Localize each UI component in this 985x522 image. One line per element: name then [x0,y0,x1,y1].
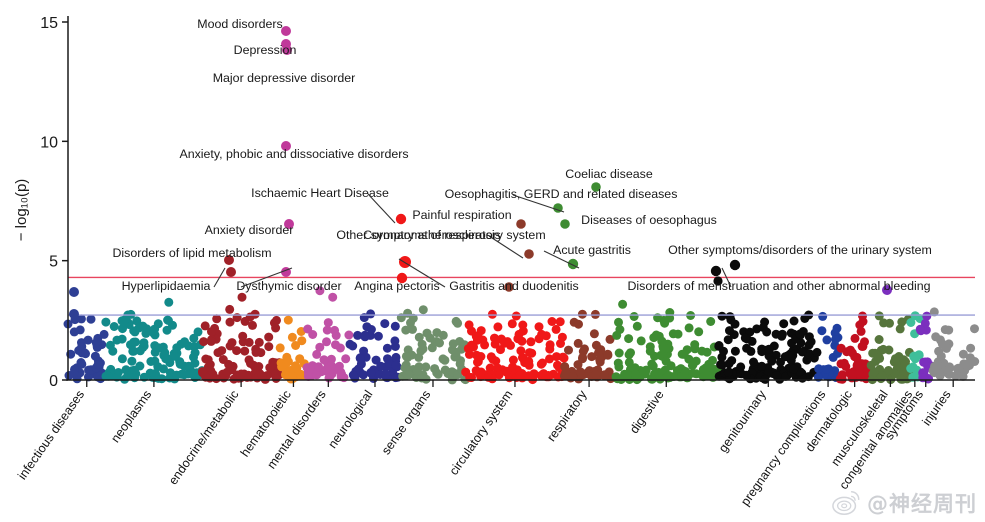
annotation-label: Painful respiration [412,208,511,222]
scatter-point [392,353,401,362]
scatter-point [637,336,646,345]
annotation-anxiety-phobic-and-dissociative-disorder: Anxiety, phobic and dissociative disorde… [179,147,408,161]
scatter-point [576,367,585,376]
scatter-point [91,352,100,361]
scatter-point [435,339,444,348]
category-label-neoplasms: neoplasms [108,388,154,446]
scatter-point [69,369,78,378]
scatter-point [350,374,359,383]
annotation-label: Diseases of oesophagus [581,213,717,227]
scatter-point [694,327,703,336]
scatter-point [254,362,263,371]
scatter-point [198,367,207,376]
scatter-point [476,352,485,361]
scatter-point [92,338,101,347]
scatter-point [919,358,928,367]
scatter-point [685,323,694,332]
annotation-label: Other symptoms/disorders of the urinary … [668,243,932,257]
scatter-point [841,362,850,371]
scatter-point [548,317,557,326]
scatter-point [646,347,655,356]
scatter-point [508,319,517,328]
scatter-point [805,341,814,350]
annotation-coronary-atherosclerosis: Coronary atherosclerosis [363,228,501,242]
scatter-point [512,312,521,321]
annotation-label: Anxiety, phobic and dissociative disorde… [179,147,408,161]
scatter-point [649,333,658,342]
scatter-point [180,337,189,346]
category-label-respiratory: respiratory [544,387,590,444]
scatter-point [264,342,273,351]
scatter-point [822,335,831,344]
scatter-point [662,357,671,366]
scatter-point [139,338,148,347]
scatter-point [600,371,609,380]
scatter-point [374,332,383,341]
scatter-point [742,344,751,353]
scatter-point [615,349,624,358]
category-cloud-digestive [612,300,723,384]
scatter-point [380,319,389,328]
scatter-point [799,327,808,336]
scatter-point [525,348,534,357]
scatter-point [537,360,546,369]
scatter-point [81,349,90,358]
scatter-point [858,312,867,321]
scatter-point [851,334,860,343]
scatter-point [515,371,524,380]
scatter-point [381,370,390,379]
scatter-point [896,324,905,333]
scatter-point [271,324,280,333]
scatter-point [493,322,502,331]
scatter-point [87,315,96,324]
scatter-point [94,360,103,369]
scatter-point [560,354,569,363]
scatter-point [688,361,697,370]
scatter-point [219,355,228,364]
scatter-point [657,337,666,346]
category-cloud-dermatologic [836,312,872,384]
scatter-point [541,371,550,380]
scatter-point [252,348,261,357]
scatter-point [240,347,249,356]
highlighted-points-layer [69,26,892,319]
scatter-point [535,322,544,331]
annotation-mood-disorders: Mood disorders [197,17,282,31]
scatter-point [440,356,449,365]
annotation-disorders-of-menstruation-and-other-abno: Disorders of menstruation and other abno… [627,268,930,293]
scatter-point [855,321,864,330]
scatter-point [118,354,127,363]
scatter-point [272,374,281,383]
weibo-logo-icon [832,488,862,518]
annotation-label: Major depressive disorder [213,71,356,85]
scatter-point [596,345,605,354]
scatter-point [264,333,273,342]
scatter-point [757,362,766,371]
scatter-point [180,370,189,379]
scatter-point [817,326,826,335]
scatter-point [818,312,827,321]
scatter-point [789,365,798,374]
scatter-point [970,324,979,333]
scatter-point [154,374,163,383]
y-axis-title: − log₁₀(p) [13,179,30,242]
scatter-point [76,325,85,334]
scatter-point [590,329,599,338]
scatter-point [578,310,587,319]
scatter-point [767,357,776,366]
scatter-point [741,333,750,342]
annotation-label: Hyperlipidaemia [122,279,211,293]
scatter-point [966,344,975,353]
scatter-point [335,362,344,371]
scatter-point [556,317,565,326]
scatter-point [961,360,970,369]
scatter-point [488,310,497,319]
scatter-point [452,348,461,357]
annotation-label: Coronary atherosclerosis [363,228,501,242]
scatter-point [245,338,254,347]
scatter-point [674,330,683,339]
highlight-point-urinary-symptoms [730,260,740,270]
scatter-point [171,352,180,361]
category-cloud-genitourinary [714,311,822,384]
highlight-point-diseases-oesophagus [560,219,570,229]
scatter-point [265,363,274,372]
scatter-point [419,344,428,353]
scatter-point [515,330,524,339]
scatter-point [441,366,450,375]
scatter-point [906,318,915,327]
scatter-point [703,371,712,380]
scatter-point [228,338,237,347]
scatter-point [591,370,600,379]
scatter-point [127,357,136,366]
scatter-point [237,370,246,379]
scatter-point [518,321,527,330]
scatter-point [284,316,293,325]
annotation-label: Mood disorders [197,17,282,31]
category-cloud-mental-disorders [303,286,354,382]
category-label-infectious-diseases: infectious diseases [15,388,87,483]
scatter-point [690,344,699,353]
highlight-point-hyperlipidaemia [226,267,236,277]
scatter-point [574,320,583,329]
scatter-point [432,368,441,377]
scatter-point [558,333,567,342]
category-cloud-sense-organs [397,305,470,384]
scatter-point [272,316,281,325]
scatter-point [508,363,517,372]
scatter-point [772,371,781,380]
annotation-diseases-of-oesophagus: Diseases of oesophagus [581,213,717,227]
scatter-point [391,342,400,351]
scatter-point [366,309,375,318]
scatter-point [944,326,953,335]
scatter-point [359,370,368,379]
scatter-point [423,329,432,338]
scatter-point [296,370,305,379]
scatter-point [524,357,533,366]
category-cloud-circulatory-system [461,310,568,384]
scatter-point [295,354,304,363]
category-label-circulatory-system: circulatory system [447,388,516,478]
scatter-point [491,357,500,366]
scatter-point [328,293,337,302]
scatter-point [725,326,734,335]
scatter-point [580,344,589,353]
scatter-point [878,372,887,381]
scatter-point [654,368,663,377]
scatter-point [314,362,323,371]
highlight-point-coronary-athero [399,256,411,268]
annotation-ischaemic-heart-disease: Ischaemic Heart Disease [251,186,395,223]
scatter-point [630,312,639,321]
scatter-point [110,322,119,331]
scatter-point [615,325,624,334]
scatter-point [814,364,823,373]
scatter-point [232,346,241,355]
scatter-point [659,316,668,325]
scatter-point [603,351,612,360]
category-label-endocrine-metabolic: endocrine/metabolic [166,388,242,488]
category-label-sense-organs: sense organs [379,388,434,458]
scatter-point [276,343,285,352]
category-cloud-neoplasms [101,298,206,384]
annotation-label: Anxiety disorder [205,223,294,237]
scatter-point [163,316,172,325]
scatter-point [284,357,293,366]
scatter-point [108,347,117,356]
scatter-point [688,369,697,378]
scatter-point [480,340,489,349]
scatter-point [879,345,888,354]
annotation-labels-layer: Mood disordersDepressionMajor depressive… [112,17,931,293]
scatter-point [836,374,845,383]
scatter-point [813,348,822,357]
scatter-point [151,348,160,357]
scatter-point [837,344,846,353]
annotation-disorders-of-lipid-metabolism: Disorders of lipid metabolism [112,246,271,260]
scatter-point [875,353,884,362]
scatter-point [207,327,216,336]
scatter-point [798,348,807,357]
annotation-acute-gastritis: Acute gastritis [544,243,631,268]
scatter-point [331,340,340,349]
scatter-point [361,332,370,341]
scatter-point [391,361,400,370]
scatter-point [131,338,140,347]
scatter-point [449,339,458,348]
scatter-point [101,318,110,327]
watermark: @神经周刊 [832,488,977,518]
scatter-point [312,350,321,359]
scatter-point [312,370,321,379]
scatter-point [189,334,198,343]
annotation-depression: Depression [234,43,297,57]
scatter-point [246,359,255,368]
scatter-point [341,354,350,363]
scatter-point [618,300,627,309]
category-cloud-neurological [346,309,403,383]
scatter-point [633,322,642,331]
scatter-point [404,370,413,379]
scatter-point [777,332,786,341]
scatter-point [344,331,353,340]
annotation-label: Ischaemic Heart Disease [251,186,389,200]
scatter-point [625,350,634,359]
scatter-point [322,337,331,346]
scatter-point [647,375,656,384]
scatter-point [788,351,797,360]
scatter-point [552,325,561,334]
scatter-point [936,371,945,380]
scatter-point [664,371,673,380]
annotation-label: Dysthymic disorder [236,279,341,293]
scatter-point [724,368,733,377]
scatter-point [564,346,573,355]
scatter-point [207,337,216,346]
scatter-point [413,366,422,375]
scatter-point [852,353,861,362]
y-tick-label: 0 [49,373,58,390]
scatter-point [938,339,947,348]
category-label-injuries: injuries [919,388,953,428]
scatter-point [251,310,260,319]
scatter-point [149,329,158,338]
scatter-point [718,312,727,321]
annotation-hyperlipidaemia: Hyperlipidaemia [122,268,225,293]
scatter-point [472,366,481,375]
annotation-major-depressive-disorder: Major depressive disorder [213,71,356,85]
scatter-point [136,346,145,355]
scatter-point [749,358,758,367]
scatter-point [916,325,925,334]
scatter-point [639,367,648,376]
scatter-point [118,324,127,333]
y-axis-label-layer: − log₁₀(p) [13,179,30,242]
scatter-point [77,358,86,367]
scatter-points-layer [64,286,980,384]
scatter-point [403,309,412,318]
scatter-point [897,375,906,384]
y-tick-label: 15 [40,15,58,32]
scatter-point [189,353,198,362]
scatter-point [238,332,247,341]
scatter-point [631,370,640,379]
scatter-point [595,355,604,364]
scatter-point [453,319,462,328]
scatter-point [118,316,127,325]
scatter-point [367,325,376,334]
scatter-point [831,335,840,344]
scatter-point [176,360,185,369]
scatter-point [885,319,894,328]
annotation-label: Angina pectoris [354,279,439,293]
scatter-point [419,305,428,314]
annotation-label: Acute gastritis [553,243,631,257]
scatter-point [308,330,317,339]
scatter-point [822,365,831,374]
scatter-point [742,371,751,380]
scatter-point [123,371,132,380]
scatter-point [238,293,247,302]
scatter-point [348,342,357,351]
scatter-point [248,321,257,330]
highlight-point-infectious-high-1 [69,287,79,297]
scatter-point [930,362,939,371]
scatter-point [223,368,232,377]
scatter-point [217,346,226,355]
scatter-point [537,330,546,339]
highlight-point-acute-gastritis [568,259,578,269]
annotation-label: Disorders of menstruation and other abno… [627,279,930,293]
scatter-point [715,341,724,350]
scatter-point [132,316,141,325]
scatter-point [164,298,173,307]
scatter-point [867,361,876,370]
scatter-point [624,334,633,343]
scatter-point [790,317,799,326]
scatter-point [665,344,674,353]
category-label-digestive: digestive [627,388,667,436]
scatter-point [376,362,385,371]
plot-canvas: 051015 Mood disordersDepressionMajor dep… [0,0,985,522]
phewas-plot-figure: 051015 Mood disordersDepressionMajor dep… [0,0,985,522]
annotation-other-symptoms-disorders-of-the-urinary-: Other symptoms/disorders of the urinary … [668,243,932,257]
y-tick-label: 5 [49,254,58,271]
scatter-point [288,333,297,342]
scatter-point [891,354,900,363]
scatter-point [875,335,884,344]
scatter-point [860,337,869,346]
scatter-point [779,319,788,328]
scatter-point [526,337,535,346]
scatter-point [726,312,735,321]
scatter-point [614,359,623,368]
annotation-label: Oesophagitis, GERD and related diseases [445,187,678,201]
scatter-point [970,357,979,366]
highlight-point-menstruation-disorder [711,266,721,276]
category-cloud-infectious-diseases [64,314,109,383]
annotation-label: Gastritis and duodenitis [449,279,579,293]
scatter-point [258,371,267,380]
annotation-anxiety-disorder: Anxiety disorder [205,223,294,237]
scatter-point [472,332,481,341]
scatter-point [706,317,715,326]
scatter-point [465,320,474,329]
category-cloud-respiratory [560,310,615,384]
scatter-point [736,362,745,371]
category-cloud-endocrine-metabolic [198,293,284,384]
category-axis-labels-layer: infectious diseasesneoplasmsendocrine/me… [15,380,953,508]
scatter-point [776,358,785,367]
scatter-point [323,326,332,335]
annotation-label: Coeliac disease [565,167,653,181]
y-tick-label: 10 [40,134,58,151]
scatter-point [727,356,736,365]
highlight-point-ischaemic-heart [396,214,406,224]
scatter-point [118,335,127,344]
category-cloud-injuries [929,307,980,381]
category-label-neurological: neurological [325,388,375,451]
scatter-point [762,328,771,337]
scatter-point [678,350,687,359]
scatter-point [439,331,448,340]
scatter-point [356,354,365,363]
